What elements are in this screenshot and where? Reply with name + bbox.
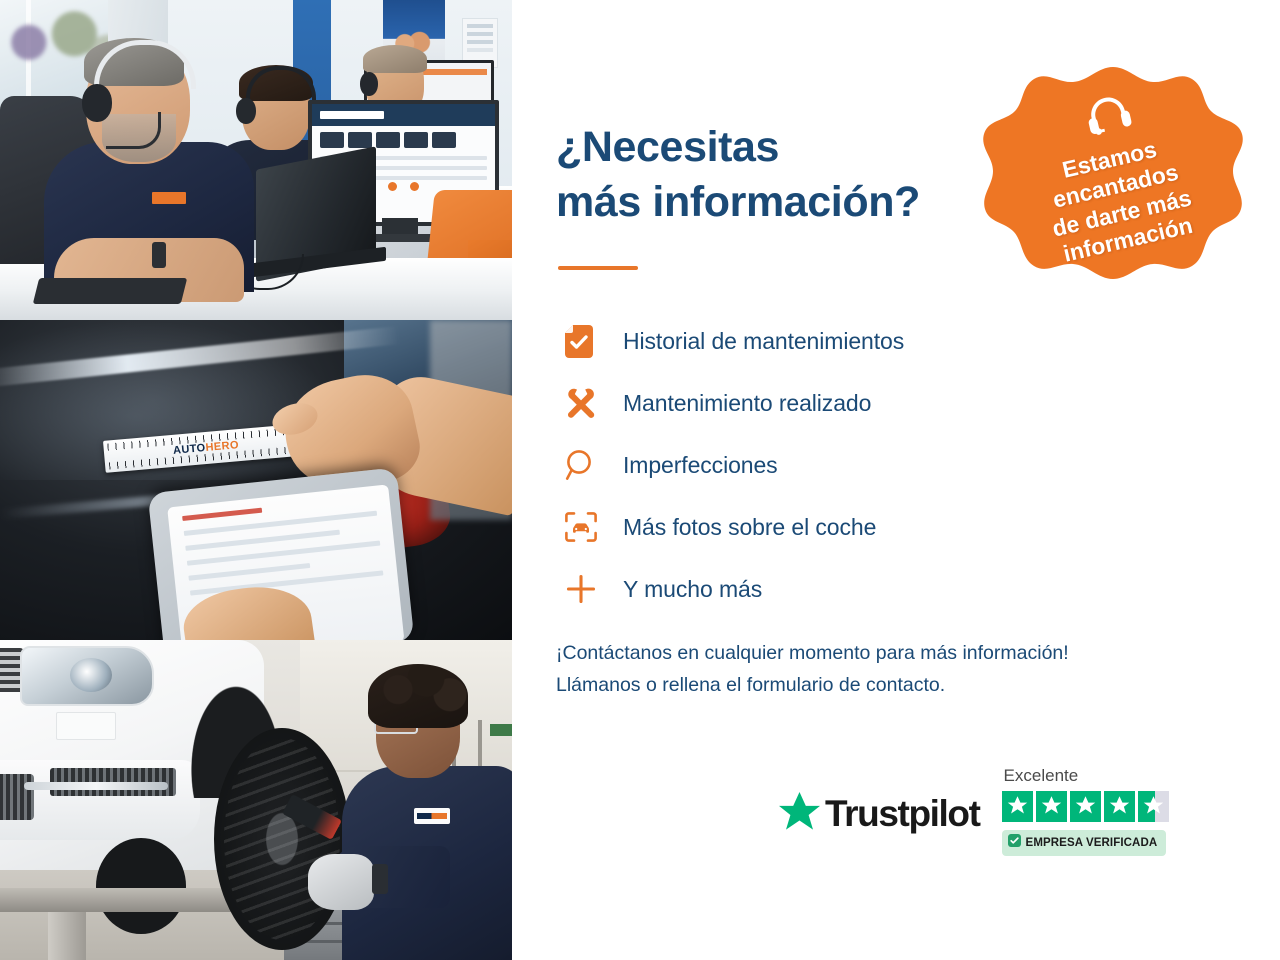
trustpilot-rating: Excelente — [1002, 766, 1169, 856]
photo-column: AUTOHERO — [0, 0, 512, 960]
feature-label: Historial de mantenimientos — [623, 328, 904, 355]
car-scan-icon — [556, 512, 623, 542]
headset-icon — [1081, 90, 1136, 144]
feature-label: Más fotos sobre el coche — [623, 514, 876, 541]
magnifier-icon — [556, 449, 623, 481]
star-3-filled — [1070, 791, 1101, 822]
trustpilot-star-icon — [779, 792, 820, 836]
star-5-partial — [1138, 791, 1169, 822]
photo-detail-agent-1 — [44, 42, 254, 282]
tools-icon — [556, 387, 623, 419]
document-check-icon — [556, 325, 623, 358]
feature-item-imperfections: Imperfecciones — [556, 434, 1156, 496]
feature-item-maintenance-done: Mantenimiento realizado — [556, 372, 1156, 434]
trustpilot-rating-label: Excelente — [1002, 766, 1079, 786]
workshop-tire-photo — [0, 640, 512, 960]
contact-text: ¡Contáctanos en cualquier momento para m… — [556, 638, 1069, 701]
info-promo-card: AUTOHERO — [0, 0, 1280, 960]
status-badge: EMPRESA VERIFICADA — [1002, 830, 1167, 856]
star-2-filled — [1036, 791, 1067, 822]
trustpilot-logo-text: Trustpilot — [825, 793, 980, 835]
content-column: ¿Necesitas más información? Es — [512, 0, 1280, 960]
trustpilot-logo[interactable]: Trustpilot — [779, 792, 980, 836]
page-title: ¿Necesitas más información? — [556, 120, 920, 230]
title-underline-rule — [558, 266, 638, 270]
feature-label: Y mucho más — [623, 576, 762, 603]
verified-label: EMPRESA VERIFICADA — [1026, 837, 1158, 849]
trustpilot-stars — [1002, 791, 1169, 822]
car-inspection-photo: AUTOHERO — [0, 320, 512, 640]
trustpilot-widget[interactable]: Trustpilot Excelente — [779, 766, 1169, 856]
check-circle-icon — [1008, 834, 1021, 852]
call-center-agents-photo — [0, 0, 512, 320]
contact-line-2: Llámanos o rellena el formulario de cont… — [556, 670, 1069, 702]
feature-list: Historial de mantenimientos Mantenimient… — [556, 310, 1156, 620]
star-1-filled — [1002, 791, 1033, 822]
contact-line-1: ¡Contáctanos en cualquier momento para m… — [556, 638, 1069, 670]
feature-label: Mantenimiento realizado — [623, 390, 871, 417]
plus-icon — [556, 573, 623, 605]
feature-label: Imperfecciones — [623, 452, 778, 479]
feature-item-more-photos: Más fotos sobre el coche — [556, 496, 1156, 558]
feature-item-much-more: Y mucho más — [556, 558, 1156, 620]
feature-item-maintenance-history: Historial de mantenimientos — [556, 310, 1156, 372]
promo-starburst-badge: Estamos encantados de darte más informac… — [983, 45, 1243, 305]
star-4-filled — [1104, 791, 1135, 822]
badge-text: Estamos encantados de darte más informac… — [1037, 131, 1200, 270]
photo-detail-tablet — [33, 278, 187, 304]
photo-detail-mechanic — [330, 658, 512, 960]
